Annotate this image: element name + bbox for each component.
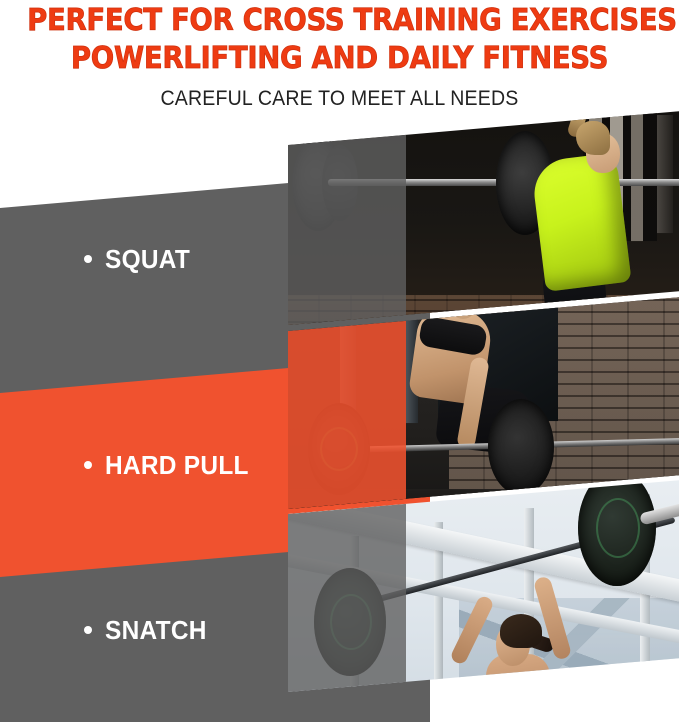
photo-snatch: [288, 480, 679, 692]
banner-label-hard-pull: HARD PULL: [84, 452, 258, 478]
banner-label-snatch: SNATCH: [84, 617, 213, 643]
bullet-dot-icon: [84, 461, 92, 469]
gym-window-side: [657, 115, 673, 233]
band-photo-overlay-3: [288, 504, 406, 692]
athlete-hair: [576, 121, 610, 155]
banner-label-squat: SQUAT: [84, 246, 196, 272]
poster-root: PERFECT FOR CROSS TRAINING EXERCISES POW…: [0, 0, 679, 722]
banner-row-snatch: SNATCH: [0, 505, 679, 722]
banner-label-text: SQUAT: [105, 246, 190, 272]
bullet-dot-icon: [84, 255, 92, 263]
banner-label-text: HARD PULL: [105, 452, 249, 478]
plate-marking-right: [596, 498, 640, 558]
headline-line-1: PERFECT FOR CROSS TRAINING EXERCISES: [27, 0, 652, 40]
headline-line-2: POWERLIFTING AND DAILY FITNESS: [27, 40, 652, 78]
banner-label-text: SNATCH: [105, 617, 207, 643]
athlete-hair: [500, 614, 542, 648]
bullet-dot-icon: [84, 626, 92, 634]
